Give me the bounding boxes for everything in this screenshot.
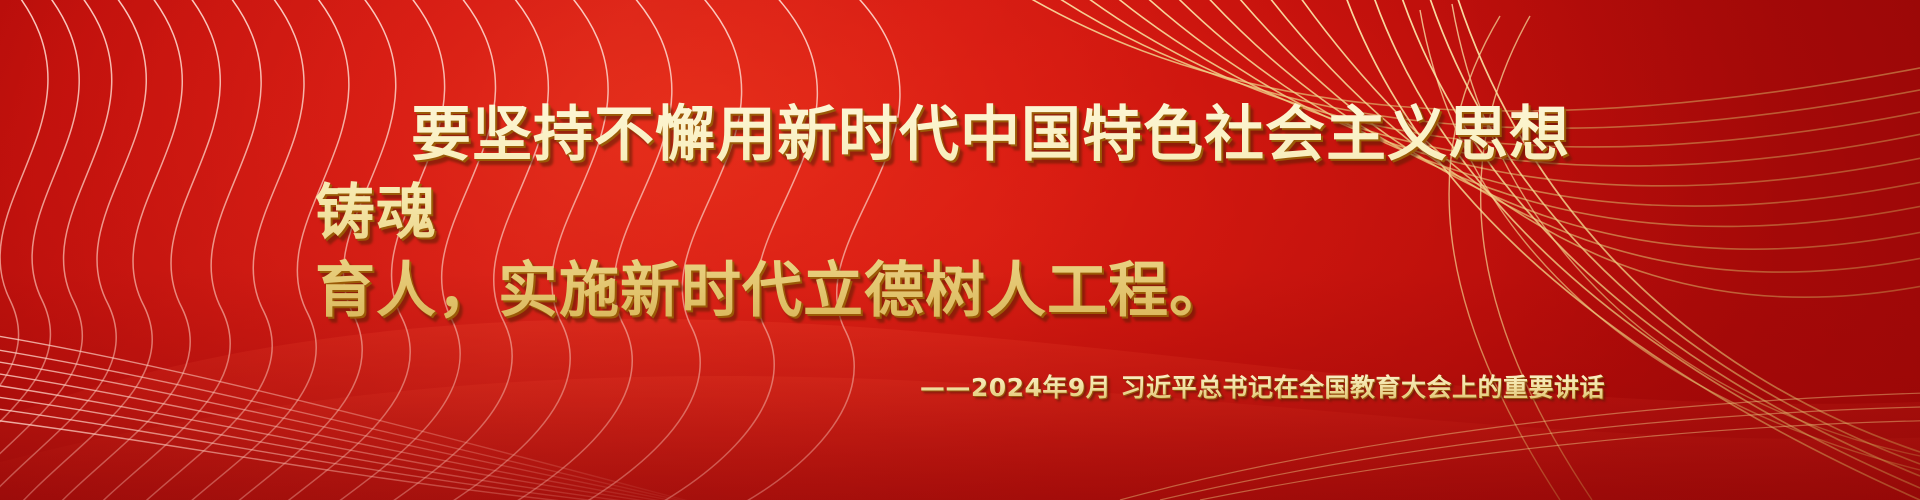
quote-line-1: 要坚持不懈用新时代中国特色社会主义思想铸魂: [315, 100, 1570, 248]
propaganda-banner: 要坚持不懈用新时代中国特色社会主义思想铸魂育人，实施新时代立德树人工程。 ——2…: [0, 0, 1920, 500]
quote-text: 要坚持不懈用新时代中国特色社会主义思想铸魂育人，实施新时代立德树人工程。: [315, 96, 1605, 330]
attribution-text: ——2024年9月 习近平总书记在全国教育大会上的重要讲话: [920, 368, 1605, 404]
banner-content: 要坚持不懈用新时代中国特色社会主义思想铸魂育人，实施新时代立德树人工程。 ——2…: [0, 0, 1920, 500]
quote-line-2: 育人，实施新时代立德树人工程。: [315, 252, 1605, 330]
attribution-row: ——2024年9月 习近平总书记在全国教育大会上的重要讲话: [315, 368, 1605, 404]
